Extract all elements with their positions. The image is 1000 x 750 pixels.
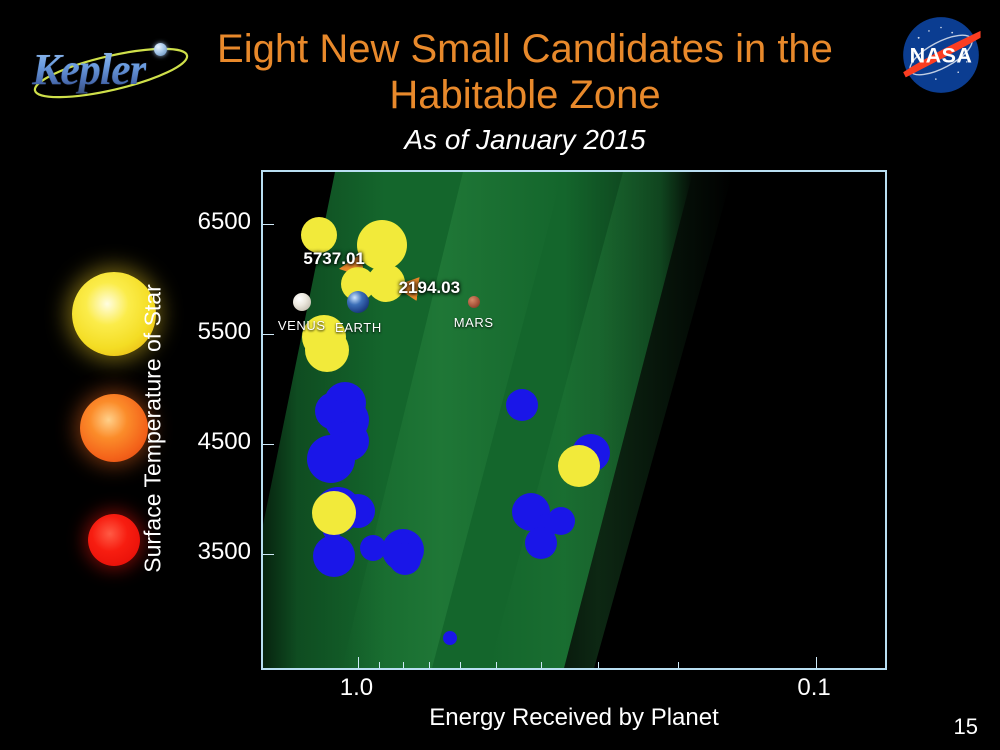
kepler-logo: Kepler	[26, 36, 196, 104]
data-point	[506, 389, 538, 421]
page-title: Eight New Small Candidates in the Habita…	[175, 26, 875, 118]
data-point	[389, 543, 421, 575]
y-tick-label: 3500	[198, 538, 251, 566]
y-tick	[263, 554, 274, 555]
data-point	[312, 491, 356, 535]
data-point	[443, 631, 457, 645]
nasa-meatball-icon: NASA	[898, 12, 984, 98]
title-block: Eight New Small Candidates in the Habita…	[175, 26, 875, 156]
legend-cool-star-icon	[88, 514, 140, 566]
data-point	[301, 217, 337, 253]
legend-medium-star-icon	[80, 394, 148, 462]
x-tick	[541, 662, 542, 668]
kepler-logo-text: Kepler	[32, 44, 146, 95]
nasa-logo-text: NASA	[910, 44, 973, 68]
solar-marker-venus-icon	[293, 293, 311, 311]
y-tick	[263, 444, 274, 445]
x-tick	[403, 662, 404, 668]
solar-marker-label: VENUS	[278, 318, 326, 333]
slide-number: 15	[954, 714, 978, 740]
x-tick	[460, 662, 461, 668]
data-point	[558, 445, 600, 487]
solar-marker-mars-icon	[468, 296, 480, 308]
solar-marker-label: MARS	[454, 315, 494, 330]
data-point	[525, 527, 557, 559]
x-axis-title: Energy Received by Planet	[261, 704, 887, 732]
y-tick	[263, 224, 274, 225]
solar-marker-earth-icon	[347, 291, 369, 313]
slide-canvas: Kepler NASA Eight New Small Candidates i…	[0, 0, 1000, 750]
candidate-annotation-label: 2194.03	[399, 278, 460, 298]
y-tick-label: 6500	[198, 208, 251, 236]
data-point	[307, 435, 355, 483]
x-tick-label: 0.1	[797, 674, 830, 702]
y-tick-label: 4500	[198, 428, 251, 456]
data-point	[313, 535, 355, 577]
y-axis-title: Surface Temperature of Star	[140, 269, 167, 589]
scatter-plot-area: VENUSEARTHMARS5737.012194.03	[261, 170, 887, 670]
x-tick	[496, 662, 497, 668]
x-tick	[358, 657, 359, 668]
x-tick-label: 1.0	[340, 674, 373, 702]
x-tick	[598, 662, 599, 668]
page-subtitle: As of January 2015	[175, 124, 875, 156]
data-point	[305, 328, 349, 372]
kepler-logo-planet-icon	[154, 43, 167, 56]
solar-marker-label: EARTH	[335, 320, 382, 335]
candidate-annotation-label: 5737.01	[303, 249, 364, 269]
y-tick	[263, 334, 274, 335]
x-tick	[429, 662, 430, 668]
x-tick	[379, 662, 380, 668]
x-tick	[816, 657, 817, 668]
x-tick	[678, 662, 679, 668]
y-tick-label: 5500	[198, 318, 251, 346]
